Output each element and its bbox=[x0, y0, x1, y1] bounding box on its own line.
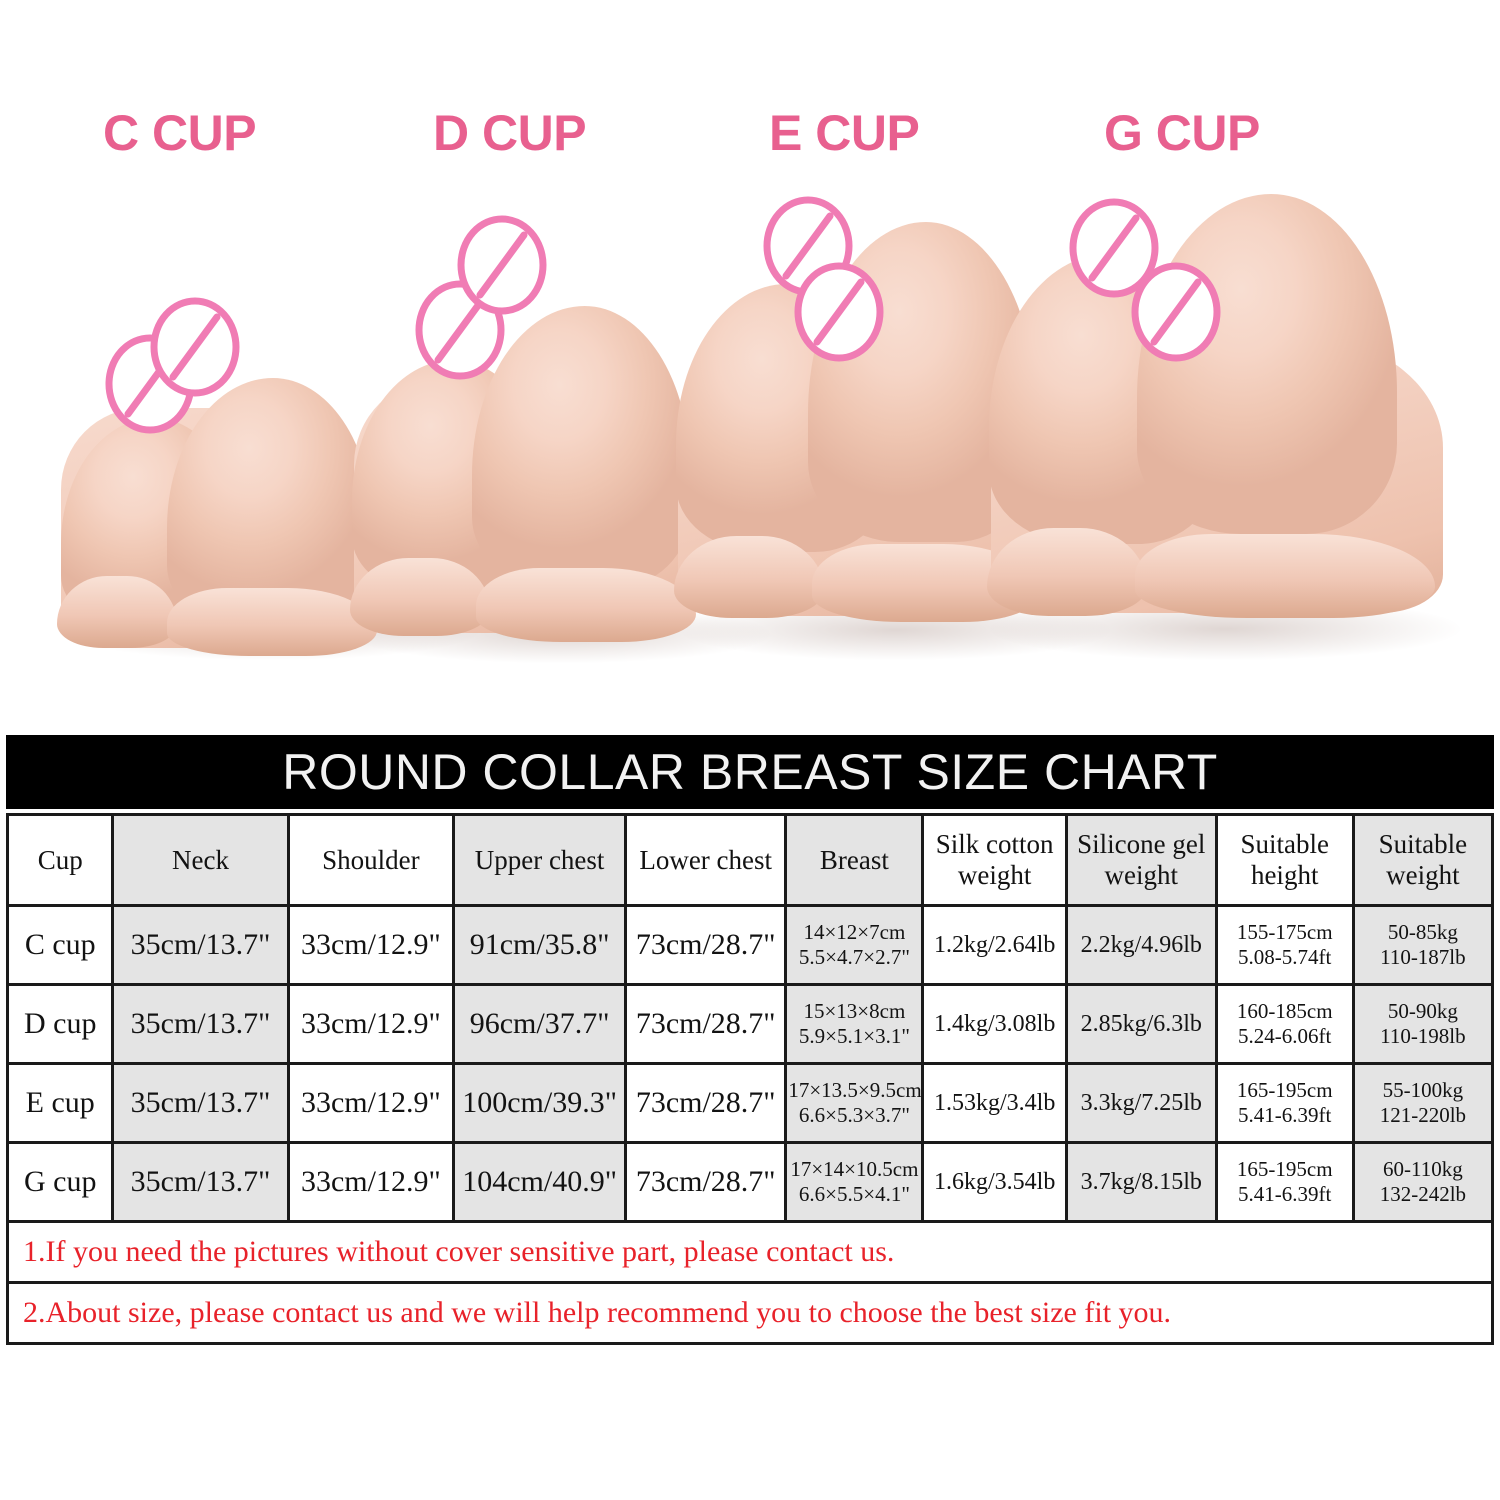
header-cup: Cup bbox=[8, 815, 113, 906]
cell-suitable-weight: 55-100kg 121-220lb bbox=[1353, 1064, 1492, 1143]
height-cm: 160-185cm bbox=[1237, 999, 1333, 1023]
cell-upper-chest: 96cm/37.7" bbox=[454, 985, 626, 1064]
cell-suitable-height: 165-195cm 5.41-6.39ft bbox=[1216, 1143, 1353, 1222]
breast-cm: 17×13.5×9.5cm bbox=[788, 1078, 921, 1102]
weight-lb: 132-242lb bbox=[1380, 1182, 1466, 1206]
censor-badge-icon bbox=[456, 215, 548, 315]
cup-label-g: G CUP bbox=[1104, 104, 1260, 162]
cell-cup: G cup bbox=[8, 1143, 113, 1222]
breast-cm: 14×12×7cm bbox=[803, 920, 905, 944]
form-fold bbox=[167, 588, 377, 656]
header-neck: Neck bbox=[113, 815, 288, 906]
cell-shoulder: 33cm/12.9" bbox=[288, 1143, 454, 1222]
cell-suitable-weight: 50-85kg 110-187lb bbox=[1353, 906, 1492, 985]
note-1: 1.If you need the pictures without cover… bbox=[8, 1222, 1493, 1283]
form-fold bbox=[57, 576, 177, 648]
censor-badge-icon bbox=[793, 262, 885, 362]
header-line2: weight bbox=[958, 860, 1032, 890]
weight-lb: 110-198lb bbox=[1380, 1024, 1466, 1048]
size-chart: ROUND COLLAR BREAST SIZE CHART Cup Neck … bbox=[6, 735, 1494, 1345]
header-line2: height bbox=[1251, 860, 1319, 890]
cell-lower-chest: 73cm/28.7" bbox=[626, 1064, 786, 1143]
cup-label-e: E CUP bbox=[769, 104, 919, 162]
chart-title: ROUND COLLAR BREAST SIZE CHART bbox=[6, 735, 1494, 809]
cell-suitable-height: 165-195cm 5.41-6.39ft bbox=[1216, 1064, 1353, 1143]
form-fold bbox=[350, 558, 490, 636]
table-row: D cup 35cm/13.7" 33cm/12.9" 96cm/37.7" 7… bbox=[8, 985, 1493, 1064]
header-silicone-gel-weight: Silicone gel weight bbox=[1066, 815, 1216, 906]
cell-silk-cotton-weight: 1.2kg/2.64lb bbox=[923, 906, 1066, 985]
cell-silicone-gel-weight: 3.7kg/8.15lb bbox=[1066, 1143, 1216, 1222]
censor-badge-icon bbox=[1130, 262, 1222, 362]
cell-upper-chest: 104cm/40.9" bbox=[454, 1143, 626, 1222]
cell-lower-chest: 73cm/28.7" bbox=[626, 1143, 786, 1222]
cell-suitable-weight: 50-90kg 110-198lb bbox=[1353, 985, 1492, 1064]
cell-suitable-height: 155-175cm 5.08-5.74ft bbox=[1216, 906, 1353, 985]
cell-lower-chest: 73cm/28.7" bbox=[626, 906, 786, 985]
cell-silk-cotton-weight: 1.6kg/3.54lb bbox=[923, 1143, 1066, 1222]
censor-badge-icon bbox=[149, 297, 241, 397]
header-line1: Suitable bbox=[1240, 829, 1329, 859]
header-upper-chest: Upper chest bbox=[454, 815, 626, 906]
header-suitable-weight: Suitable weight bbox=[1353, 815, 1492, 906]
breast-in: 6.6×5.3×3.7" bbox=[799, 1103, 910, 1127]
header-line1: Silicone gel bbox=[1077, 829, 1205, 859]
cell-silk-cotton-weight: 1.4kg/3.08lb bbox=[923, 985, 1066, 1064]
cup-label-d: D CUP bbox=[433, 104, 586, 162]
form-breast bbox=[1137, 194, 1397, 534]
cell-shoulder: 33cm/12.9" bbox=[288, 906, 454, 985]
breast-form-g-cup bbox=[985, 168, 1453, 658]
weight-lb: 110-187lb bbox=[1380, 945, 1466, 969]
form-fold bbox=[674, 536, 824, 618]
height-ft: 5.08-5.74ft bbox=[1238, 945, 1331, 969]
cell-breast: 17×13.5×9.5cm 6.6×5.3×3.7" bbox=[786, 1064, 923, 1143]
cell-lower-chest: 73cm/28.7" bbox=[626, 985, 786, 1064]
cell-neck: 35cm/13.7" bbox=[113, 1064, 288, 1143]
weight-kg: 55-100kg bbox=[1383, 1078, 1464, 1102]
cell-neck: 35cm/13.7" bbox=[113, 906, 288, 985]
breast-in: 5.9×5.1×3.1" bbox=[799, 1024, 910, 1048]
height-ft: 5.41-6.39ft bbox=[1238, 1103, 1331, 1127]
cell-shoulder: 33cm/12.9" bbox=[288, 1064, 454, 1143]
cell-silicone-gel-weight: 2.85kg/6.3lb bbox=[1066, 985, 1216, 1064]
cell-breast: 15×13×8cm 5.9×5.1×3.1" bbox=[786, 985, 923, 1064]
cell-suitable-height: 160-185cm 5.24-6.06ft bbox=[1216, 985, 1353, 1064]
header-breast: Breast bbox=[786, 815, 923, 906]
cell-neck: 35cm/13.7" bbox=[113, 1143, 288, 1222]
note-2: 2.About size, please contact us and we w… bbox=[8, 1283, 1493, 1344]
table-row: G cup 35cm/13.7" 33cm/12.9" 104cm/40.9" … bbox=[8, 1143, 1493, 1222]
weight-lb: 121-220lb bbox=[1380, 1103, 1466, 1127]
cell-silicone-gel-weight: 2.2kg/4.96lb bbox=[1066, 906, 1216, 985]
cell-upper-chest: 91cm/35.8" bbox=[454, 906, 626, 985]
table-header-row: Cup Neck Shoulder Upper chest Lower ches… bbox=[8, 815, 1493, 906]
form-fold bbox=[1135, 534, 1435, 618]
cell-breast: 17×14×10.5cm 6.6×5.5×4.1" bbox=[786, 1143, 923, 1222]
header-line2: weight bbox=[1105, 860, 1179, 890]
cell-suitable-weight: 60-110kg 132-242lb bbox=[1353, 1143, 1492, 1222]
cell-silicone-gel-weight: 3.3kg/7.25lb bbox=[1066, 1064, 1216, 1143]
cell-cup: C cup bbox=[8, 906, 113, 985]
form-fold bbox=[987, 528, 1147, 616]
cell-cup: D cup bbox=[8, 985, 113, 1064]
weight-kg: 60-110kg bbox=[1383, 1157, 1463, 1181]
height-cm: 165-195cm bbox=[1237, 1157, 1333, 1181]
header-silk-cotton-weight: Silk cotton weight bbox=[923, 815, 1066, 906]
cup-label-c: C CUP bbox=[103, 104, 256, 162]
cell-breast: 14×12×7cm 5.5×4.7×2.7" bbox=[786, 906, 923, 985]
height-ft: 5.41-6.39ft bbox=[1238, 1182, 1331, 1206]
form-fold bbox=[476, 568, 696, 642]
cell-neck: 35cm/13.7" bbox=[113, 985, 288, 1064]
header-lower-chest: Lower chest bbox=[626, 815, 786, 906]
cell-upper-chest: 100cm/39.3" bbox=[454, 1064, 626, 1143]
weight-kg: 50-90kg bbox=[1388, 999, 1458, 1023]
table-row: C cup 35cm/13.7" 33cm/12.9" 91cm/35.8" 7… bbox=[8, 906, 1493, 985]
weight-kg: 50-85kg bbox=[1388, 920, 1458, 944]
breast-in: 5.5×4.7×2.7" bbox=[799, 945, 910, 969]
breast-cm: 15×13×8cm bbox=[803, 999, 905, 1023]
cell-cup: E cup bbox=[8, 1064, 113, 1143]
height-ft: 5.24-6.06ft bbox=[1238, 1024, 1331, 1048]
height-cm: 155-175cm bbox=[1237, 920, 1333, 944]
table-row: E cup 35cm/13.7" 33cm/12.9" 100cm/39.3" … bbox=[8, 1064, 1493, 1143]
cell-silk-cotton-weight: 1.53kg/3.4lb bbox=[923, 1064, 1066, 1143]
header-line1: Silk cotton bbox=[936, 829, 1054, 859]
product-photo: C CUP D CUP E CUP G CUP bbox=[0, 0, 1500, 720]
header-shoulder: Shoulder bbox=[288, 815, 454, 906]
header-suitable-height: Suitable height bbox=[1216, 815, 1353, 906]
note-row: 1.If you need the pictures without cover… bbox=[8, 1222, 1493, 1283]
size-table: Cup Neck Shoulder Upper chest Lower ches… bbox=[6, 813, 1494, 1345]
cell-shoulder: 33cm/12.9" bbox=[288, 985, 454, 1064]
note-row: 2.About size, please contact us and we w… bbox=[8, 1283, 1493, 1344]
height-cm: 165-195cm bbox=[1237, 1078, 1333, 1102]
breast-cm: 17×14×10.5cm bbox=[790, 1157, 918, 1181]
header-line1: Suitable bbox=[1379, 829, 1468, 859]
header-line2: weight bbox=[1386, 860, 1460, 890]
breast-in: 6.6×5.5×4.1" bbox=[799, 1182, 910, 1206]
